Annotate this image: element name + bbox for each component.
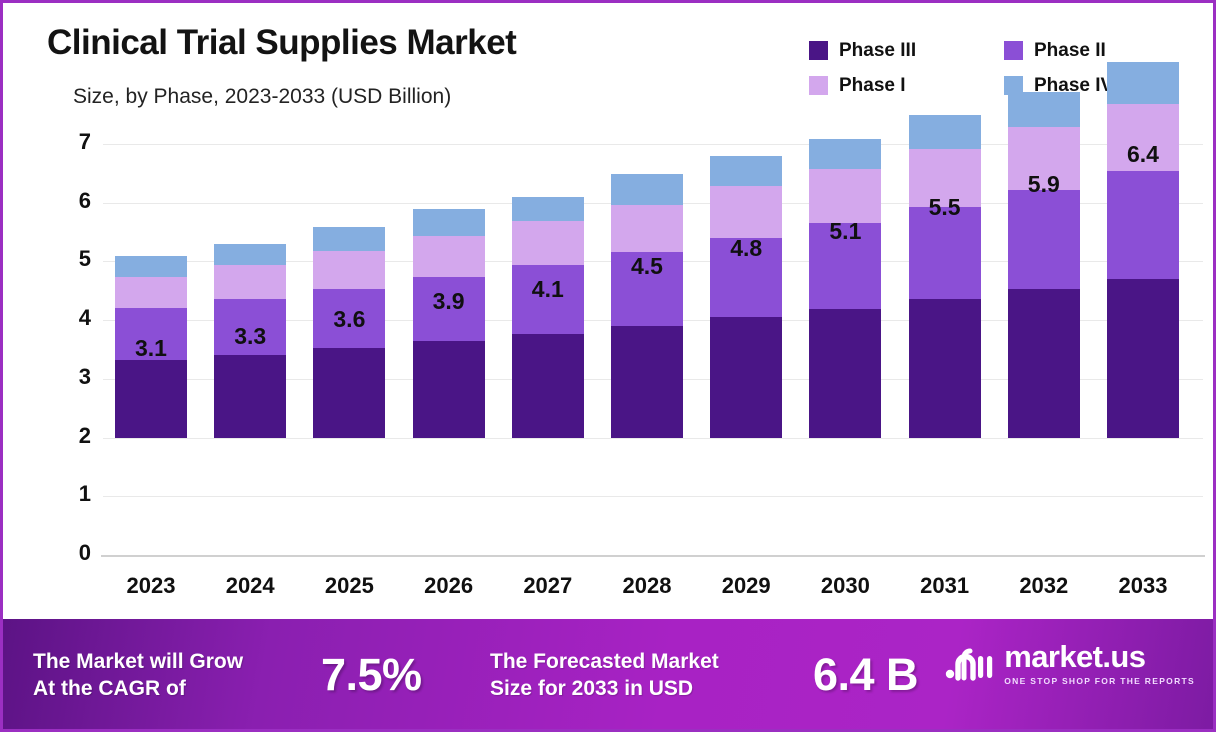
cagr-value: 7.5%: [321, 649, 422, 701]
bar-segment-phase-i[interactable]: [512, 221, 584, 265]
bar-segment-phase-iii[interactable]: [214, 355, 286, 438]
bar-segment-phase-i[interactable]: [413, 236, 485, 277]
y-axis-tick-label: 0: [51, 540, 91, 566]
bar-stack[interactable]: [1008, 92, 1080, 438]
y-axis-tick-label: 1: [51, 481, 91, 507]
bar-segment-phase-iv[interactable]: [313, 227, 385, 251]
bar-segment-phase-i[interactable]: [710, 186, 782, 238]
bar-segment-phase-iv[interactable]: [809, 139, 881, 169]
bar-stack[interactable]: [710, 156, 782, 438]
bar-segment-phase-ii[interactable]: [1008, 190, 1080, 289]
bar-value-label: 5.9: [984, 171, 1104, 198]
bar-segment-phase-ii[interactable]: [1107, 171, 1179, 279]
bar-segment-phase-i[interactable]: [611, 205, 683, 253]
bar-segment-phase-iv[interactable]: [909, 115, 981, 148]
x-axis-line: [101, 555, 1205, 557]
bar-stack[interactable]: [512, 197, 584, 438]
forecast-caption: The Forecasted MarketSize for 2033 in US…: [490, 649, 719, 703]
bar-stack[interactable]: [1107, 62, 1179, 438]
bar-value-label: 5.1: [785, 218, 905, 245]
bar-stack[interactable]: [909, 115, 981, 438]
y-axis-tick-label: 7: [51, 129, 91, 155]
y-axis-tick-label: 4: [51, 305, 91, 331]
bar-segment-phase-iv[interactable]: [710, 156, 782, 186]
bar-stack[interactable]: [611, 174, 683, 438]
bar-segment-phase-iii[interactable]: [1008, 289, 1080, 438]
market-us-logo-icon: [943, 644, 995, 684]
forecast-value: 6.4 B: [813, 649, 918, 701]
bar-segment-phase-i[interactable]: [313, 251, 385, 289]
y-axis-tick-label: 3: [51, 364, 91, 390]
bar-segment-phase-i[interactable]: [809, 169, 881, 224]
logo-tagline: ONE STOP SHOP FOR THE REPORTS: [1004, 676, 1195, 686]
bar-segment-phase-iii[interactable]: [809, 309, 881, 438]
bar-segment-phase-iv[interactable]: [1008, 92, 1080, 128]
bar-segment-phase-iv[interactable]: [512, 197, 584, 220]
bar-value-label: 6.4: [1083, 141, 1203, 168]
bar-segment-phase-iv[interactable]: [413, 209, 485, 236]
bar-segment-phase-iii[interactable]: [1107, 279, 1179, 438]
market-us-logo[interactable]: market.us ONE STOP SHOP FOR THE REPORTS: [943, 641, 1195, 686]
bar-segment-phase-iv[interactable]: [1107, 62, 1179, 104]
bar-segment-phase-iii[interactable]: [115, 360, 187, 438]
x-axis-tick-label: 2033: [1083, 573, 1203, 599]
bar-segment-phase-iv[interactable]: [214, 244, 286, 265]
bar-segment-phase-iii[interactable]: [413, 341, 485, 438]
bar-segment-phase-iii[interactable]: [710, 317, 782, 438]
bar-value-label: 5.5: [885, 194, 1005, 221]
y-axis-tick-label: 6: [51, 188, 91, 214]
bar-segment-phase-iii[interactable]: [611, 326, 683, 438]
bar-segment-phase-i[interactable]: [214, 265, 286, 300]
chart-plot-area: 012345673.120233.320243.620253.920264.12…: [3, 3, 1216, 618]
bar-stack[interactable]: [809, 139, 881, 438]
y-axis-tick-label: 2: [51, 423, 91, 449]
bar-segment-phase-iii[interactable]: [313, 348, 385, 438]
infographic-root: Clinical Trial Supplies Market Size, by …: [0, 0, 1216, 732]
y-axis-tick-label: 5: [51, 246, 91, 272]
bar-segment-phase-iii[interactable]: [909, 299, 981, 438]
bar-segment-phase-iii[interactable]: [512, 334, 584, 439]
logo-wordmark: market.us: [1004, 641, 1195, 672]
footer-banner: The Market will GrowAt the CAGR of 7.5% …: [3, 619, 1213, 729]
bar-stack[interactable]: [413, 209, 485, 438]
bar-value-label: 4.1: [488, 276, 608, 303]
bar-segment-phase-i[interactable]: [115, 277, 187, 309]
bar-segment-phase-iv[interactable]: [115, 256, 187, 277]
cagr-caption: The Market will GrowAt the CAGR of: [33, 649, 243, 703]
bar-segment-phase-iv[interactable]: [611, 174, 683, 205]
bar-segment-phase-ii[interactable]: [909, 207, 981, 299]
gridline: [103, 496, 1203, 497]
